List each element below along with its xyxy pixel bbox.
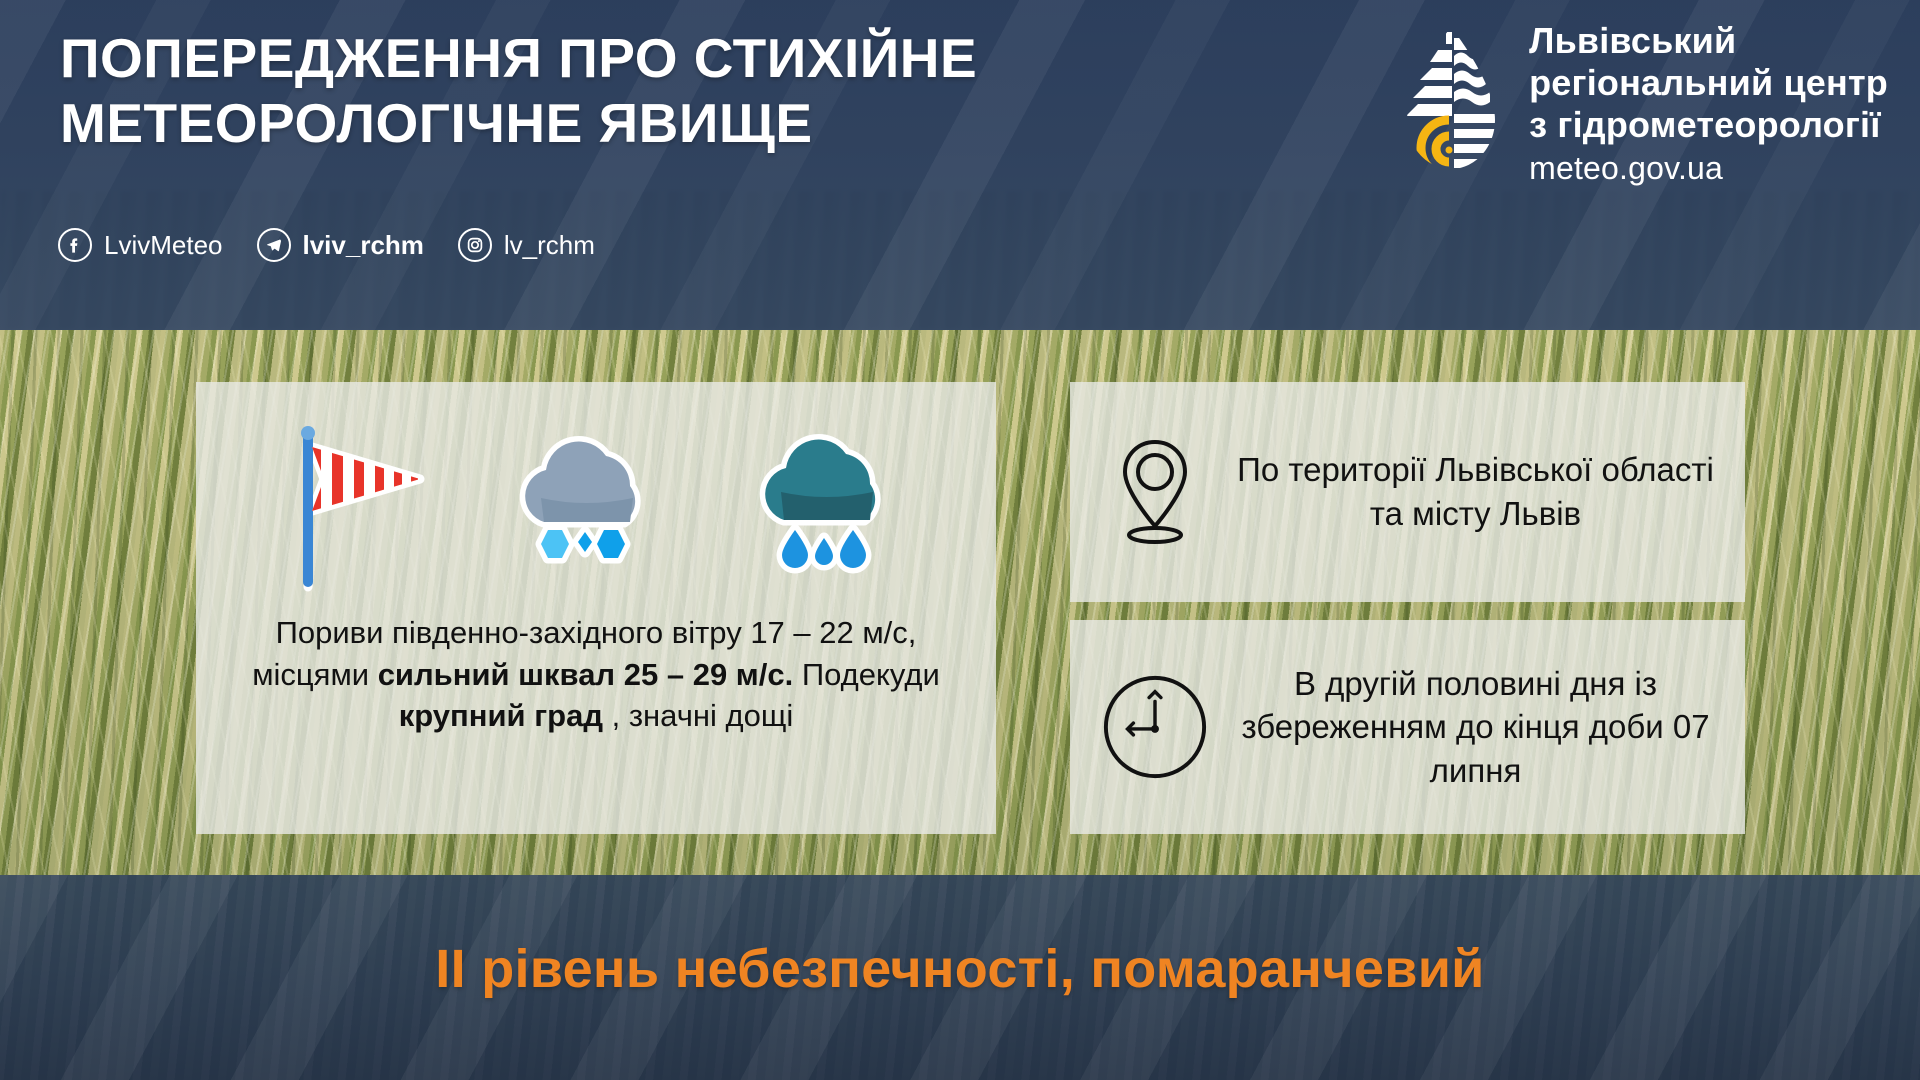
region-card: По території Львівської області та місту… [1070, 382, 1745, 602]
time-card: В другій половині дня із збереженням до … [1070, 620, 1745, 834]
warning-text-part-3 [615, 657, 624, 692]
warning-text-part-2: сильний шквал [378, 657, 615, 692]
header-band: ПОПЕРЕДЖЕННЯ ПРО СТИХІЙНЕ МЕТЕОРОЛОГІЧНЕ… [0, 0, 1920, 330]
page-title-line2: МЕТЕОРОЛОГІЧНЕ ЯВИЩЕ [60, 91, 1060, 156]
region-text: По території Львівської області та місту… [1236, 448, 1715, 535]
storm-pennant-icon [282, 411, 430, 606]
main-content: Пориви південно-західного вітру 17 – 22 … [0, 330, 1920, 875]
page-title-line1: ПОПЕРЕДЖЕННЯ ПРО СТИХІЙНЕ [60, 27, 977, 89]
warning-text-part-5: Подекуди [793, 657, 940, 692]
hail-cloud-icon [500, 426, 670, 591]
logo-line-2: регіональний центр [1529, 62, 1888, 104]
telegram-icon [257, 228, 291, 262]
social-links: LvivMeteo lviv_rchm [58, 228, 595, 262]
warning-icons [196, 382, 996, 612]
danger-level-band: II рівень небезпечності, помаранчевий [0, 875, 1920, 1080]
instagram-icon [458, 228, 492, 262]
weather-warning-poster: ПОПЕРЕДЖЕННЯ ПРО СТИХІЙНЕ МЕТЕОРОЛОГІЧНЕ… [0, 0, 1920, 1080]
warning-details-card: Пориви південно-західного вітру 17 – 22 … [196, 382, 996, 834]
danger-level-text: II рівень небезпечності, помаранчевий [0, 875, 1920, 1080]
facebook-icon [58, 228, 92, 262]
logo-website[interactable]: meteo.gov.ua [1529, 149, 1888, 187]
social-name-facebook: LvivMeteo [104, 230, 223, 261]
social-name-instagram: lv_rchm [504, 230, 595, 261]
lviv-hydromet-logo-icon [1399, 24, 1503, 174]
warning-text-part-7: , значні дощі [603, 698, 793, 733]
organization-logo: Львівський регіональний центр з гідромет… [1399, 20, 1888, 188]
rain-cloud-icon [740, 426, 910, 591]
warning-text-part-4: 25 – 29 м/с. [624, 657, 793, 692]
page-title: ПОПЕРЕДЖЕННЯ ПРО СТИХІЙНЕ МЕТЕОРОЛОГІЧНЕ… [60, 26, 1060, 156]
warning-description: Пориви південно-західного вітру 17 – 22 … [196, 612, 996, 737]
social-link-facebook[interactable]: LvivMeteo [58, 228, 223, 262]
social-link-instagram[interactable]: lv_rchm [458, 228, 595, 262]
time-text: В другій половині дня із збереженням до … [1236, 662, 1715, 793]
social-link-telegram[interactable]: lviv_rchm [257, 228, 424, 262]
organization-name: Львівський регіональний центр з гідромет… [1529, 20, 1888, 188]
social-name-telegram: lviv_rchm [303, 230, 424, 261]
clock-icon [1100, 671, 1210, 783]
warning-text-part-0: Пориви південно-західного вітру [276, 615, 751, 650]
map-pin-icon [1100, 434, 1210, 550]
warning-text-part-6: крупний град [399, 698, 603, 733]
logo-line-3: з гідрометеорології [1529, 104, 1888, 146]
logo-line-1: Львівський [1529, 20, 1888, 62]
